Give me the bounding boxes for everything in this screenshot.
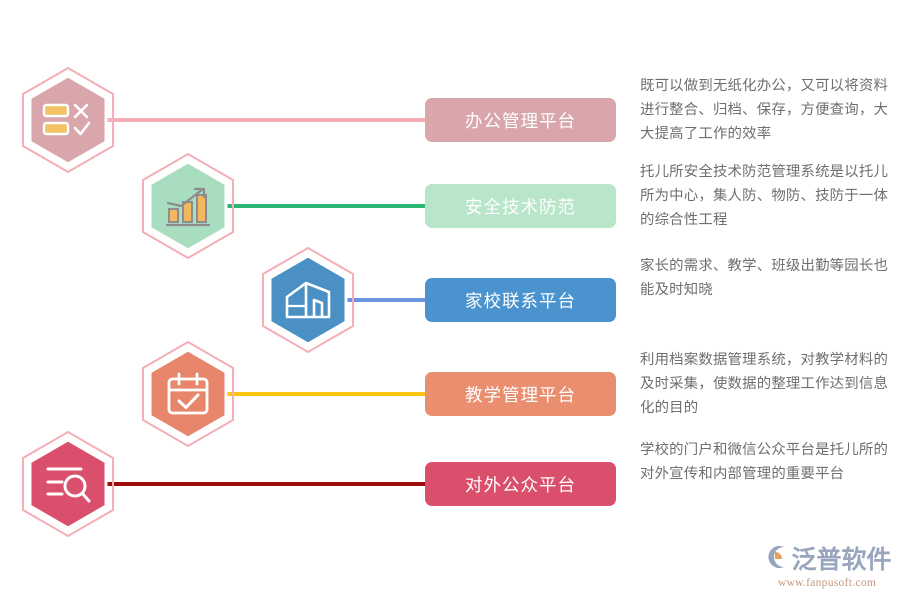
infographic-canvas: 办公管理平台 既可以做到无纸化办公，又可以将资料进行整合、归档、保存，方便查询，… <box>0 0 900 600</box>
pill-text: 对外公众平台 <box>465 472 576 497</box>
platform-description: 既可以做到无纸化办公，又可以将资料进行整合、归档、保存，方便查询，大大提高了工作… <box>640 74 896 146</box>
connector-line <box>218 392 428 396</box>
connector-line <box>218 204 428 208</box>
brand-name: 泛普软件 <box>791 547 891 572</box>
connector-line <box>98 482 428 486</box>
diagram-row: 对外公众平台 学校的门户和微信公众平台是托儿所的对外宣传和内部管理的重要平台 <box>0 430 900 550</box>
platform-description: 家长的需求、教学、班级出勤等园长也能及时知晓 <box>640 254 896 302</box>
brand-watermark: 泛普软件 www.fanpusoft.com <box>762 540 892 592</box>
platform-label-pill[interactable]: 教学管理平台 <box>425 372 616 416</box>
brand-url: www.fanpusoft.com <box>778 577 876 589</box>
building-icon <box>260 246 356 354</box>
hexagon-node[interactable] <box>140 152 236 260</box>
platform-description: 托儿所安全技术防范管理系统是以托儿所为中心，集人防、物防、技防于一体的综合性工程 <box>640 160 896 232</box>
document-search-icon <box>20 430 116 538</box>
platform-label-pill[interactable]: 办公管理平台 <box>425 98 616 142</box>
platform-label-pill[interactable]: 安全技术防范 <box>425 184 616 228</box>
hexagon-node[interactable] <box>260 246 356 354</box>
pill-text: 办公管理平台 <box>465 108 576 133</box>
connector-line <box>98 118 428 122</box>
bar-chart-growth-icon <box>140 152 236 260</box>
platform-description: 利用档案数据管理系统，对教学材料的及时采集，使数据的整理工作达到信息化的目的 <box>640 348 896 420</box>
platform-label-pill[interactable]: 家校联系平台 <box>425 278 616 322</box>
fanpu-logo-mark <box>762 544 788 575</box>
logo-lockup: 泛普软件 <box>762 544 891 575</box>
pill-text: 安全技术防范 <box>465 194 576 219</box>
platform-description: 学校的门户和微信公众平台是托儿所的对外宣传和内部管理的重要平台 <box>640 438 896 486</box>
pill-text: 家校联系平台 <box>465 288 576 313</box>
pill-text: 教学管理平台 <box>465 382 576 407</box>
platform-label-pill[interactable]: 对外公众平台 <box>425 462 616 506</box>
hexagon-node[interactable] <box>20 430 116 538</box>
